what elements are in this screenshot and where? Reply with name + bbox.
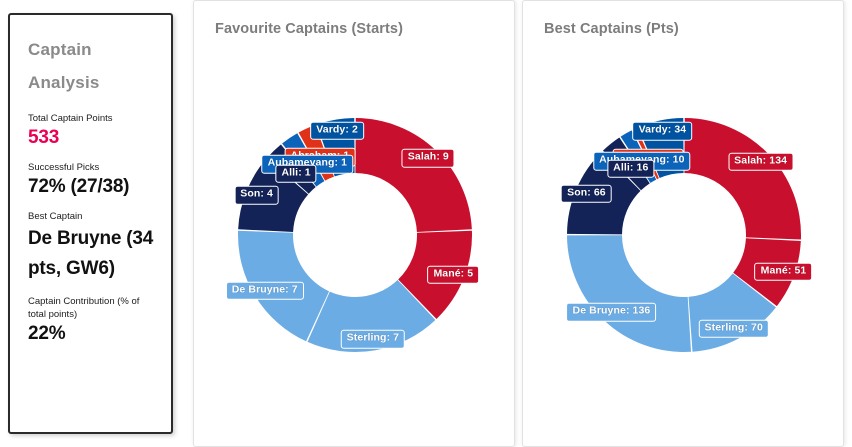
chart-title: Best Captains (Pts): [523, 1, 843, 37]
donut-chart-best-captains: Salah: 134Mané: 51Sterling: 70De Bruyne:…: [523, 37, 844, 397]
chart-card-favourite-captains: Favourite Captains (Starts) Salah: 9Mané…: [193, 0, 515, 447]
donut-slice-label: Mané: 51: [755, 262, 813, 281]
donut-slice-label: Son: 66: [561, 184, 612, 203]
captain-analysis-dashboard: Captain Analysis Total Captain Points 53…: [0, 0, 852, 447]
donut-slice-label: Mané: 5: [427, 265, 479, 284]
metric-captain-contribution: Captain Contribution (% of total points)…: [28, 296, 157, 344]
donut-svg: [523, 37, 844, 397]
donut-slice-label: Alli: 1: [275, 164, 316, 183]
donut-slice-label: De Bruyne: 7: [226, 281, 304, 300]
metric-label: Captain Contribution (% of total points): [28, 296, 152, 322]
metric-successful-picks: Successful Picks 72% (27/38): [28, 162, 157, 198]
metric-label: Total Captain Points: [28, 113, 152, 126]
donut-slice-label: Sterling: 70: [699, 319, 769, 338]
donut-slice[interactable]: [355, 118, 471, 232]
page-title-line1: Captain: [28, 33, 157, 66]
captain-analysis-panel: Captain Analysis Total Captain Points 53…: [8, 13, 173, 434]
metric-value: 22%: [28, 323, 157, 345]
metric-best-captain: Best Captain De Bruyne (34 pts, GW6): [28, 211, 157, 284]
donut-slice-label: Alli: 16: [607, 159, 654, 178]
donut-slice-label: Salah: 9: [402, 149, 455, 168]
donut-slice-label: Vardy: 2: [310, 121, 364, 140]
metric-value: 533: [28, 127, 157, 149]
chart-card-best-captains: Best Captains (Pts) Salah: 134Mané: 51St…: [522, 0, 844, 447]
metric-label: Best Captain: [28, 211, 152, 224]
donut-slice-label: Sterling: 7: [341, 330, 405, 349]
metric-total-captain-points: Total Captain Points 533: [28, 113, 157, 149]
metric-value: 72% (27/38): [28, 176, 157, 198]
donut-slice-label: De Bruyne: 136: [567, 303, 657, 322]
metric-value: De Bruyne (34 pts, GW6): [28, 224, 157, 283]
donut-slice-label: Salah: 134: [728, 152, 793, 171]
page-title: Captain Analysis: [28, 33, 157, 99]
donut-slice[interactable]: [684, 118, 801, 240]
chart-title: Favourite Captains (Starts): [194, 1, 514, 37]
metric-label: Successful Picks: [28, 162, 152, 175]
donut-slice-label: Vardy: 34: [633, 122, 693, 141]
donut-slice[interactable]: [567, 235, 691, 352]
page-title-line2: Analysis: [28, 66, 157, 99]
donut-chart-favourite-captains: Salah: 9Mané: 5Sterling: 7De Bruyne: 7So…: [194, 37, 515, 397]
donut-slice-label: Son: 4: [234, 186, 279, 205]
